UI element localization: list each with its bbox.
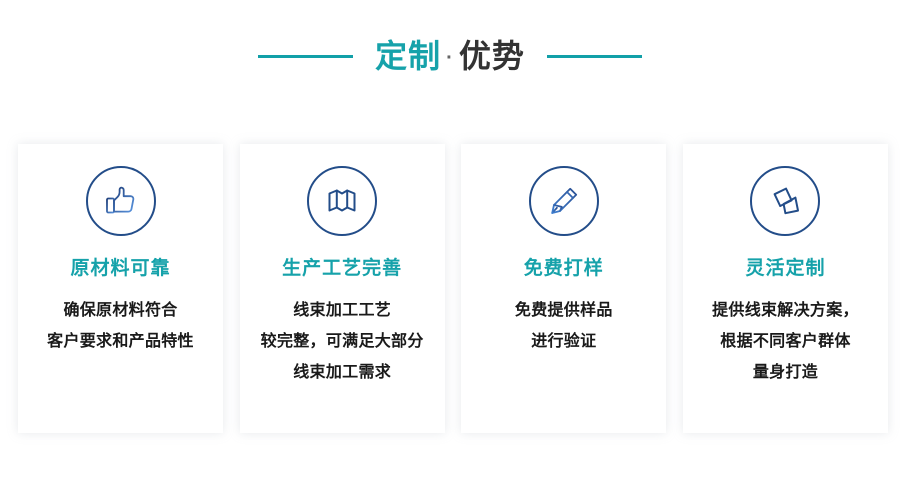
- card-body-line: 根据不同客户群体: [689, 326, 882, 357]
- title-rule-left-icon: [258, 55, 353, 58]
- feature-card[interactable]: 生产工艺完善 线束加工工艺 较完整，可满足大部分 线束加工需求: [240, 144, 445, 433]
- card-body-line: 免费提供样品: [467, 295, 660, 326]
- folded-map-icon: [307, 166, 377, 236]
- page-title: 定制 · 优势: [375, 40, 525, 72]
- pencil-icon: [529, 166, 599, 236]
- title-primary-text: 定制: [375, 40, 441, 72]
- card-body-line: 量身打造: [689, 357, 882, 388]
- card-heading: 免费打样: [524, 258, 604, 281]
- card-body: 免费提供样品 进行验证: [461, 295, 666, 357]
- section-title: 定制 · 优势: [0, 30, 900, 82]
- card-body-line: 线束加工工艺: [246, 295, 439, 326]
- card-body: 提供线束解决方案， 根据不同客户群体 量身打造: [683, 295, 888, 388]
- card-body-line: 客户要求和产品特性: [24, 326, 217, 357]
- card-body: 确保原材料符合 客户要求和产品特性: [18, 295, 223, 357]
- feature-card[interactable]: 灵活定制 提供线束解决方案， 根据不同客户群体 量身打造: [683, 144, 888, 433]
- feature-card[interactable]: 原材料可靠 确保原材料符合 客户要求和产品特性: [18, 144, 223, 433]
- card-body-line: 线束加工需求: [246, 357, 439, 388]
- card-heading: 灵活定制: [745, 258, 825, 281]
- title-separator-dot: ·: [446, 48, 454, 68]
- card-body-line: 较完整，可满足大部分: [246, 326, 439, 357]
- title-rule-right-icon: [547, 55, 642, 58]
- card-heading: 原材料可靠: [70, 258, 170, 281]
- feature-card-list: 原材料可靠 确保原材料符合 客户要求和产品特性 生产工艺完善 线束加工工艺 较完…: [18, 144, 888, 433]
- card-body: 线束加工工艺 较完整，可满足大部分 线束加工需求: [240, 295, 445, 388]
- stacked-cards-icon: [750, 166, 820, 236]
- title-secondary-text: 优势: [459, 40, 525, 72]
- card-body-line: 进行验证: [467, 326, 660, 357]
- feature-card[interactable]: 免费打样 免费提供样品 进行验证: [461, 144, 666, 433]
- card-heading: 生产工艺完善: [282, 258, 402, 281]
- card-body-line: 确保原材料符合: [24, 295, 217, 326]
- thumbs-up-icon: [86, 166, 156, 236]
- card-body-line: 提供线束解决方案，: [689, 295, 882, 326]
